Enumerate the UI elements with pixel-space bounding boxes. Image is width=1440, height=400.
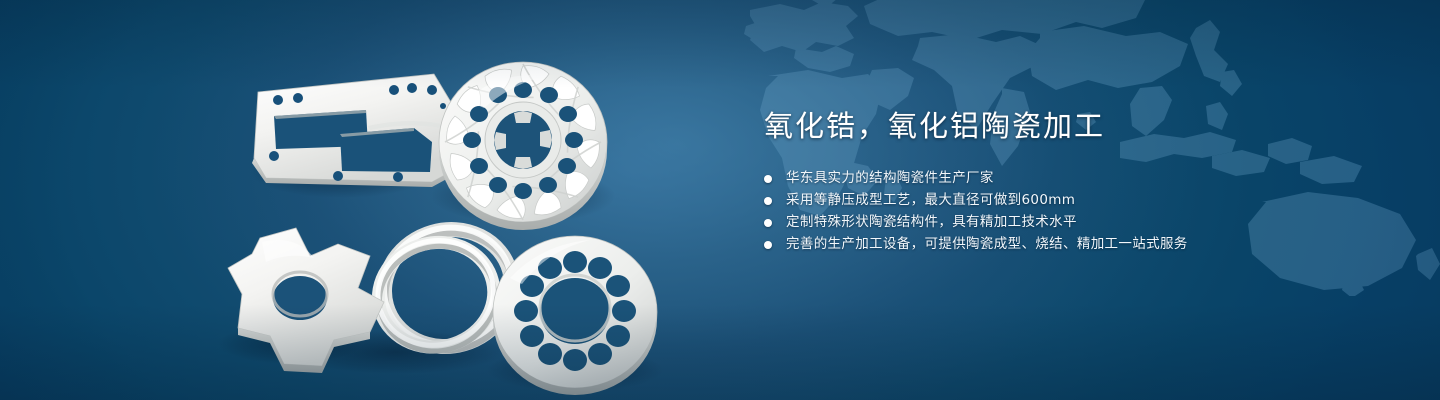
bullet-dot-icon xyxy=(764,219,772,227)
bullet-dot-icon xyxy=(764,241,772,249)
list-item: 华东具实力的结构陶瓷件生产厂家 xyxy=(764,171,1384,186)
banner-feature-list: 华东具实力的结构陶瓷件生产厂家 采用等静压成型工艺，最大直径可做到600mm 定… xyxy=(764,171,1384,252)
feature-text: 华东具实力的结构陶瓷件生产厂家 xyxy=(786,170,994,186)
banner-text-block: 氧化锆，氧化铝陶瓷加工 华东具实力的结构陶瓷件生产厂家 采用等静压成型工艺，最大… xyxy=(764,108,1384,252)
feature-text: 采用等静压成型工艺，最大直径可做到600mm xyxy=(786,192,1075,208)
list-item: 定制特殊形状陶瓷结构件，具有精加工技术水平 xyxy=(764,215,1384,230)
list-item: 完善的生产加工设备，可提供陶瓷成型、烧结、精加工一站式服务 xyxy=(764,237,1384,252)
bullet-dot-icon xyxy=(764,175,772,183)
list-item: 采用等静压成型工艺，最大直径可做到600mm xyxy=(764,193,1384,208)
hero-banner: 氧化锆，氧化铝陶瓷加工 华东具实力的结构陶瓷件生产厂家 采用等静压成型工艺，最大… xyxy=(0,0,1440,400)
bullet-dot-icon xyxy=(764,197,772,205)
feature-text: 完善的生产加工设备，可提供陶瓷成型、烧结、精加工一站式服务 xyxy=(786,236,1188,252)
feature-text: 定制特殊形状陶瓷结构件，具有精加工技术水平 xyxy=(786,214,1077,230)
banner-headline: 氧化锆，氧化铝陶瓷加工 xyxy=(764,108,1384,144)
